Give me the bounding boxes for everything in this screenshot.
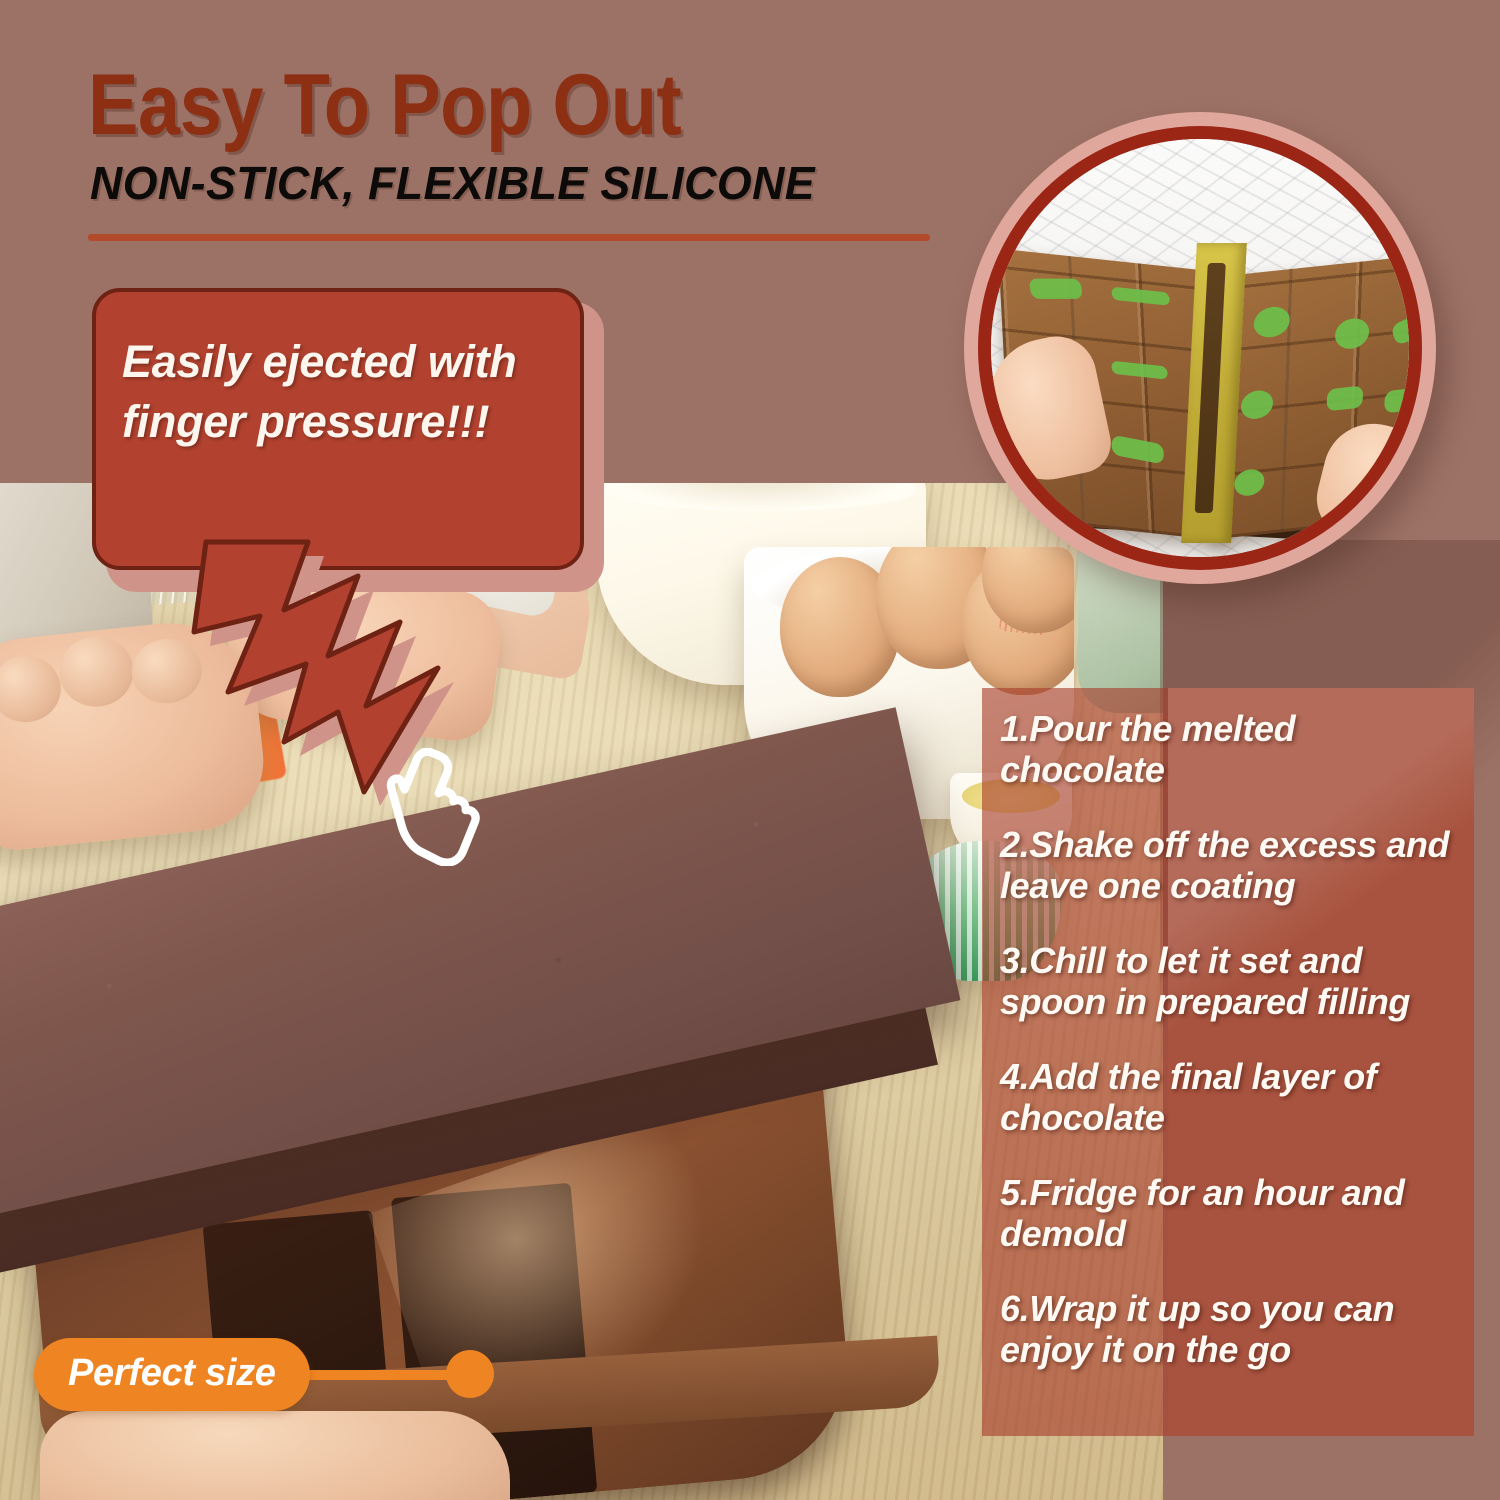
list-item: 4.Add the final layer of chocolate — [1000, 1056, 1458, 1138]
status-badge: Perfect size — [34, 1338, 310, 1411]
perfect-size-callout: Perfect size — [34, 1338, 494, 1414]
instructions-panel: 1.Pour the melted chocolate 2.Shake off … — [982, 688, 1474, 1436]
callout-bubble: Easily ejected with finger pressure!!! — [92, 288, 612, 798]
product-closeup-inset — [964, 112, 1436, 584]
list-item: 3.Chill to let it set and spoon in prepa… — [1000, 940, 1458, 1022]
page-subtitle: NON-STICK, FLEXIBLE SILICONE — [90, 160, 815, 206]
pistachio-mark — [1384, 388, 1409, 414]
inset-photo — [991, 139, 1409, 557]
palm-holding-mold — [40, 1411, 510, 1500]
list-item: 1.Pour the melted chocolate — [1000, 708, 1458, 790]
pistachio-mark — [1029, 279, 1083, 299]
pointing-down-hand-icon — [378, 748, 488, 866]
list-item: 6.Wrap it up so you can enjoy it on the … — [1000, 1288, 1458, 1370]
list-item: 5.Fridge for an hour and demold — [1000, 1172, 1458, 1254]
leader-dot — [446, 1350, 494, 1398]
page-title: Easy To Pop Out — [88, 62, 681, 148]
bubble-text: Easily ejected with finger pressure!!! — [122, 332, 562, 453]
knuckle — [0, 653, 64, 726]
instruction-step-list: 1.Pour the melted chocolate 2.Shake off … — [1000, 708, 1458, 1404]
title-divider — [88, 234, 930, 241]
product-infographic: Easy To Pop Out NON-STICK, FLEXIBLE SILI… — [0, 0, 1500, 1500]
list-item: 2.Shake off the excess and leave one coa… — [1000, 824, 1458, 906]
inset-ring — [978, 126, 1422, 570]
